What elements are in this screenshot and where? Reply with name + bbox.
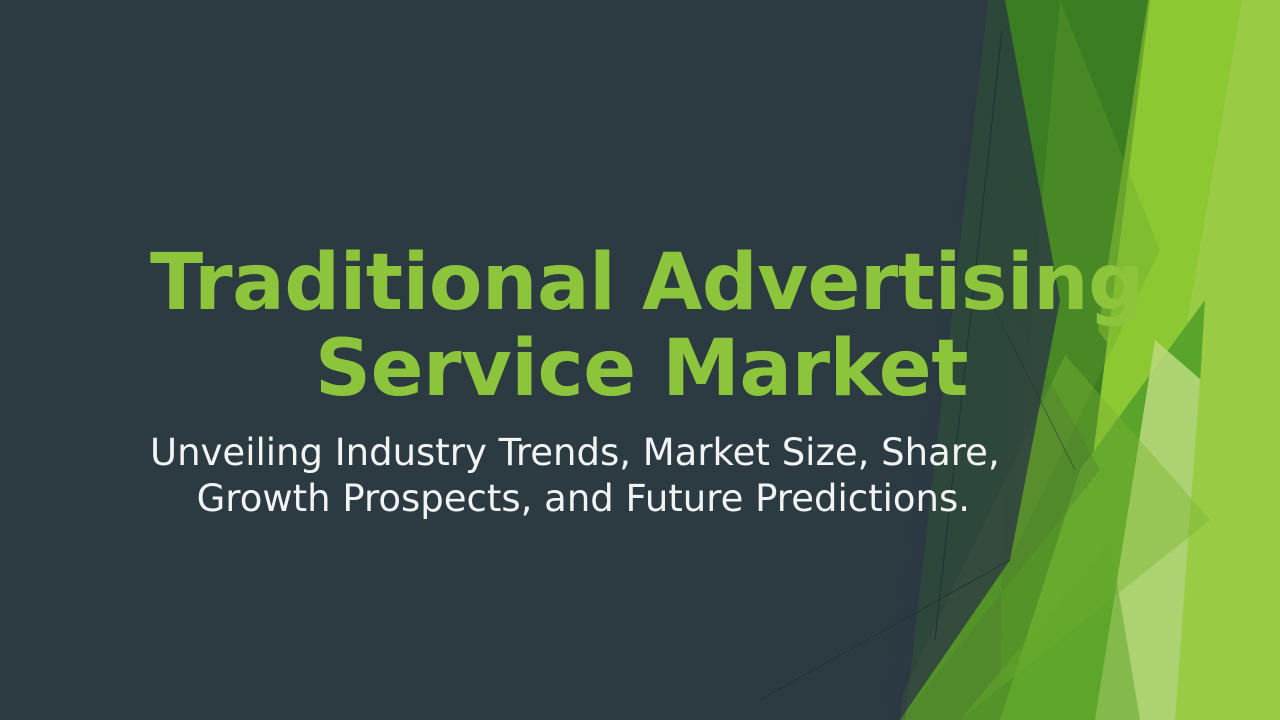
slide-text-layer: Traditional Advertising Service Market U… xyxy=(0,0,1280,720)
slide-title-line-2: Service Market xyxy=(150,326,968,412)
slide-title-line-1: Traditional Advertising xyxy=(150,240,968,326)
slide-subtitle-line-2: Growth Prospects, and Future Predictions… xyxy=(150,476,970,522)
slide-subtitle-line-1: Unveiling Industry Trends, Market Size, … xyxy=(150,430,970,476)
presentation-slide: Traditional Advertising Service Market U… xyxy=(0,0,1280,720)
slide-title: Traditional Advertising Service Market xyxy=(150,240,968,412)
slide-subtitle: Unveiling Industry Trends, Market Size, … xyxy=(150,430,970,522)
